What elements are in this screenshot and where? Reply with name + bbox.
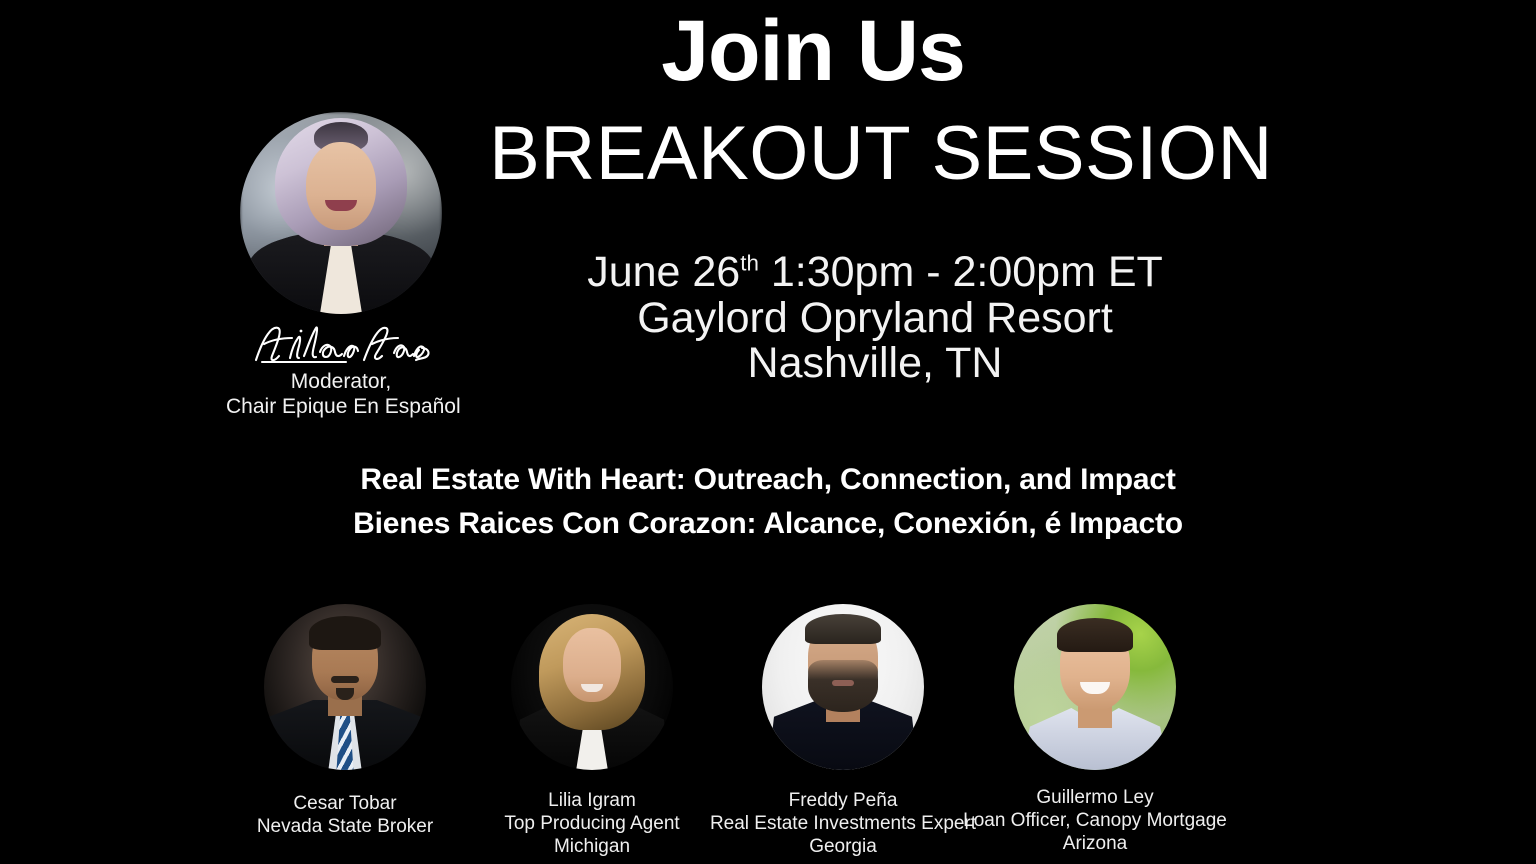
- avatar-hair: [309, 616, 381, 650]
- panelist-title: Real Estate Investments Expert: [703, 812, 983, 835]
- panelist-title: Nevada State Broker: [205, 815, 485, 838]
- panelist-avatar: [762, 604, 924, 770]
- panelist-caption: Freddy Peña Real Estate Investments Expe…: [703, 789, 983, 859]
- panelist-cesar-tobar: Cesar Tobar Nevada State Broker: [205, 604, 485, 838]
- moderator-avatar: [240, 112, 442, 314]
- panelist-name: Lilia Igram: [452, 789, 732, 812]
- event-city: Nashville, TN: [435, 341, 1315, 387]
- event-datetime: June 26th 1:30pm - 2:00pm ET: [435, 250, 1315, 296]
- avatar-beard: [808, 660, 878, 712]
- panelist-caption: Cesar Tobar Nevada State Broker: [205, 792, 485, 838]
- panelist-guillermo-ley: Guillermo Ley Loan Officer, Canopy Mortg…: [955, 604, 1235, 856]
- signature-hilda-garza: [226, 316, 456, 368]
- event-time: 1:30pm - 2:00pm ET: [759, 248, 1163, 296]
- panelist-location: Michigan: [452, 835, 732, 858]
- panelist-location: Arizona: [955, 832, 1235, 855]
- event-date: June 26: [587, 248, 740, 296]
- panelist-title: Top Producing Agent: [452, 812, 732, 835]
- session-title-en: Real Estate With Heart: Outreach, Connec…: [188, 458, 1348, 502]
- session-titles: Real Estate With Heart: Outreach, Connec…: [188, 458, 1348, 545]
- avatar-hair: [1057, 618, 1133, 652]
- panelist-lilia-igram: Lilia Igram Top Producing Agent Michigan: [452, 604, 732, 859]
- avatar-hair: [805, 614, 881, 644]
- session-title-es: Bienes Raices Con Corazon: Alcance, Cone…: [188, 502, 1348, 546]
- panelist-name: Freddy Peña: [703, 789, 983, 812]
- moderator-role-line2: Chair Epique En Español: [226, 395, 456, 420]
- moderator-block: Moderator, Chair Epique En Español: [226, 112, 456, 420]
- date-ordinal-suffix: th: [740, 251, 759, 276]
- panelist-caption: Guillermo Ley Loan Officer, Canopy Mortg…: [955, 786, 1235, 856]
- event-details: June 26th 1:30pm - 2:00pm ET Gaylord Opr…: [435, 250, 1315, 387]
- panelist-freddy-pena: Freddy Peña Real Estate Investments Expe…: [703, 604, 983, 859]
- panelist-name: Guillermo Ley: [955, 786, 1235, 809]
- page-title: BREAKOUT SESSION: [376, 106, 1386, 201]
- heading-block: Join Us BREAKOUT SESSION: [330, 8, 1340, 201]
- panelist-location: Georgia: [703, 835, 983, 858]
- slide-canvas: Join Us BREAKOUT SESSION June 26th 1:30p…: [0, 0, 1536, 864]
- eyebrow-heading: Join Us: [308, 8, 1318, 94]
- panelist-name: Cesar Tobar: [205, 792, 485, 815]
- avatar-face: [306, 142, 376, 230]
- panelist-title: Loan Officer, Canopy Mortgage: [955, 809, 1235, 832]
- moderator-role: Moderator, Chair Epique En Español: [226, 370, 456, 420]
- avatar-mouth: [832, 680, 854, 686]
- panelist-avatar: [1014, 604, 1176, 770]
- panelist-avatar: [511, 604, 673, 770]
- avatar-mustache: [331, 676, 359, 683]
- panelist-row: Cesar Tobar Nevada State Broker Lilia Ig…: [0, 604, 1536, 860]
- panelist-caption: Lilia Igram Top Producing Agent Michigan: [452, 789, 732, 859]
- event-venue: Gaylord Opryland Resort: [435, 296, 1315, 342]
- panelist-avatar: [264, 604, 426, 770]
- moderator-role-line1: Moderator,: [226, 370, 456, 395]
